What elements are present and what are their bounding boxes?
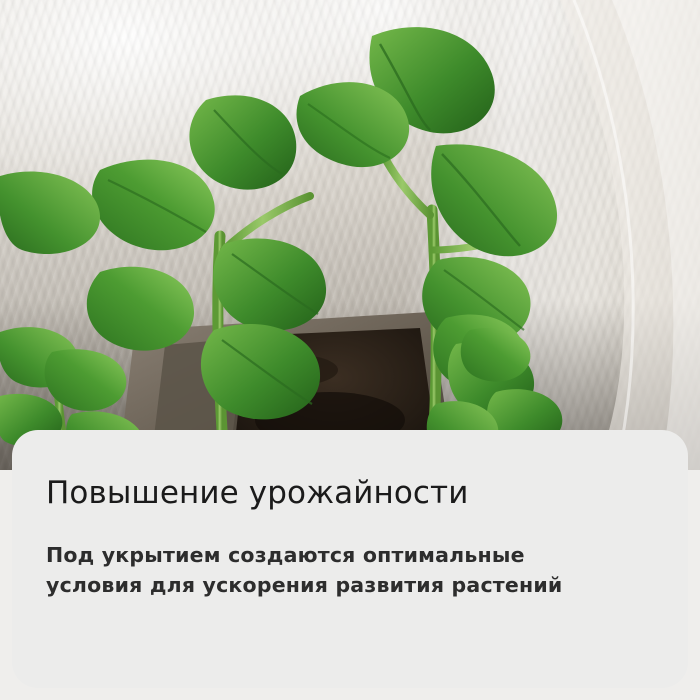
seedling-photo: [0, 0, 700, 470]
page-title: Повышение урожайности: [46, 476, 658, 512]
promo-card: Повышение урожайности Под укрытием созда…: [0, 0, 700, 700]
leaf-cluster-top-right: [296, 27, 557, 256]
plants-illustration: [0, 0, 700, 470]
caption-panel: Повышение урожайности Под укрытием созда…: [12, 430, 688, 688]
page-subtitle: Под укрытием создаются оптимальные услов…: [46, 540, 616, 602]
